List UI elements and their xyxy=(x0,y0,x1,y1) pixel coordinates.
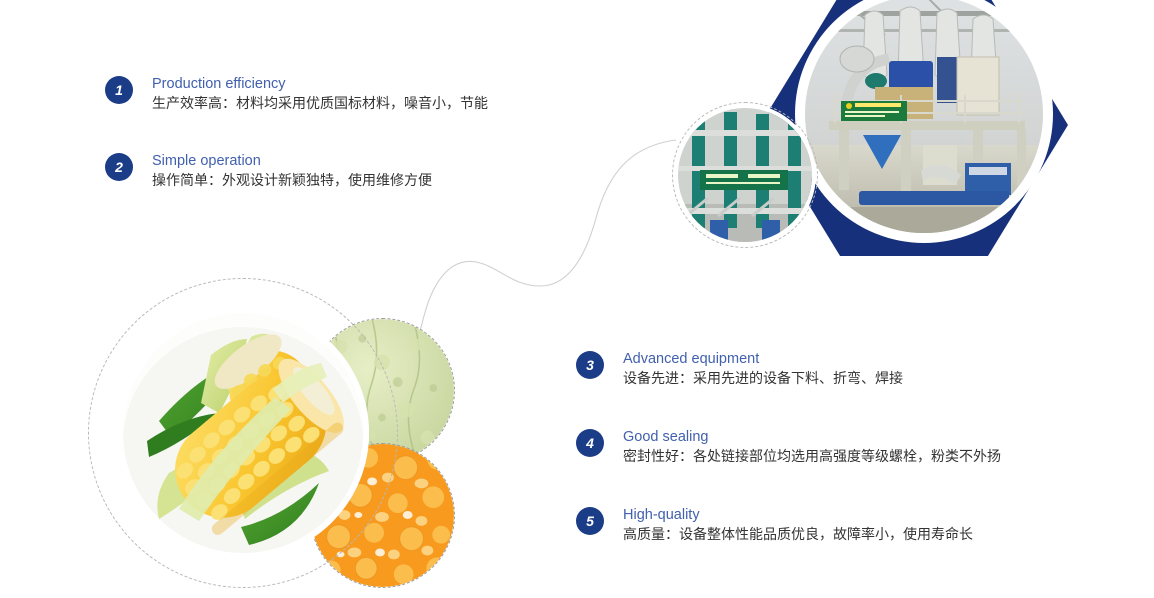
corn-product-graphic-group xyxy=(88,278,468,598)
machinery-graphic-group xyxy=(760,0,1068,256)
feature-badge-1: 1 xyxy=(105,76,133,104)
feature-description-5: 高质量：设备整体性能品质优良，故障率小，使用寿命长 xyxy=(623,525,973,546)
feature-text-1: Production efficiency 生产效率高：材料均采用优质国标材料，… xyxy=(152,75,488,115)
feature-text-5: High-quality 高质量：设备整体性能品质优良，故障率小，使用寿命长 xyxy=(623,506,973,546)
feature-heading-3: Advanced equipment xyxy=(623,350,903,368)
feature-heading-4: Good sealing xyxy=(623,428,1001,446)
feature-item-2[interactable]: 2 Simple operation 操作简单：外观设计新颖独特，使用维修方便 xyxy=(105,152,432,192)
feature-heading-5: High-quality xyxy=(623,506,973,524)
feature-badge-3: 3 xyxy=(576,351,604,379)
corn-outer-dashed-ring xyxy=(88,278,398,588)
feature-item-5[interactable]: 5 High-quality 高质量：设备整体性能品质优良，故障率小，使用寿命长 xyxy=(576,506,973,546)
machine-small-photo xyxy=(672,102,818,248)
feature-text-4: Good sealing 密封性好：各处链接部位均选用高强度等级螺栓，粉类不外扬 xyxy=(623,428,1001,468)
feature-badge-4: 4 xyxy=(576,429,604,457)
feature-badge-2: 2 xyxy=(105,153,133,181)
feature-description-3: 设备先进：采用先进的设备下料、折弯、焊接 xyxy=(623,369,903,390)
feature-item-4[interactable]: 4 Good sealing 密封性好：各处链接部位均选用高强度等级螺栓，粉类不… xyxy=(576,428,1001,468)
feature-description-1: 生产效率高：材料均采用优质国标材料，噪音小，节能 xyxy=(152,94,488,115)
feature-description-4: 密封性好：各处链接部位均选用高强度等级螺栓，粉类不外扬 xyxy=(623,447,1001,468)
page-canvas: 1 Production efficiency 生产效率高：材料均采用优质国标材… xyxy=(0,0,1154,591)
feature-badge-5: 5 xyxy=(576,507,604,535)
feature-item-3[interactable]: 3 Advanced equipment 设备先进：采用先进的设备下料、折弯、焊… xyxy=(576,350,903,390)
feature-text-2: Simple operation 操作简单：外观设计新颖独特，使用维修方便 xyxy=(152,152,432,192)
feature-item-1[interactable]: 1 Production efficiency 生产效率高：材料均采用优质国标材… xyxy=(105,75,488,115)
feature-heading-2: Simple operation xyxy=(152,152,432,170)
feature-description-2: 操作简单：外观设计新颖独特，使用维修方便 xyxy=(152,171,432,192)
feature-heading-1: Production efficiency xyxy=(152,75,488,93)
feature-text-3: Advanced equipment 设备先进：采用先进的设备下料、折弯、焊接 xyxy=(623,350,903,390)
machine-main-photo xyxy=(800,0,1048,238)
